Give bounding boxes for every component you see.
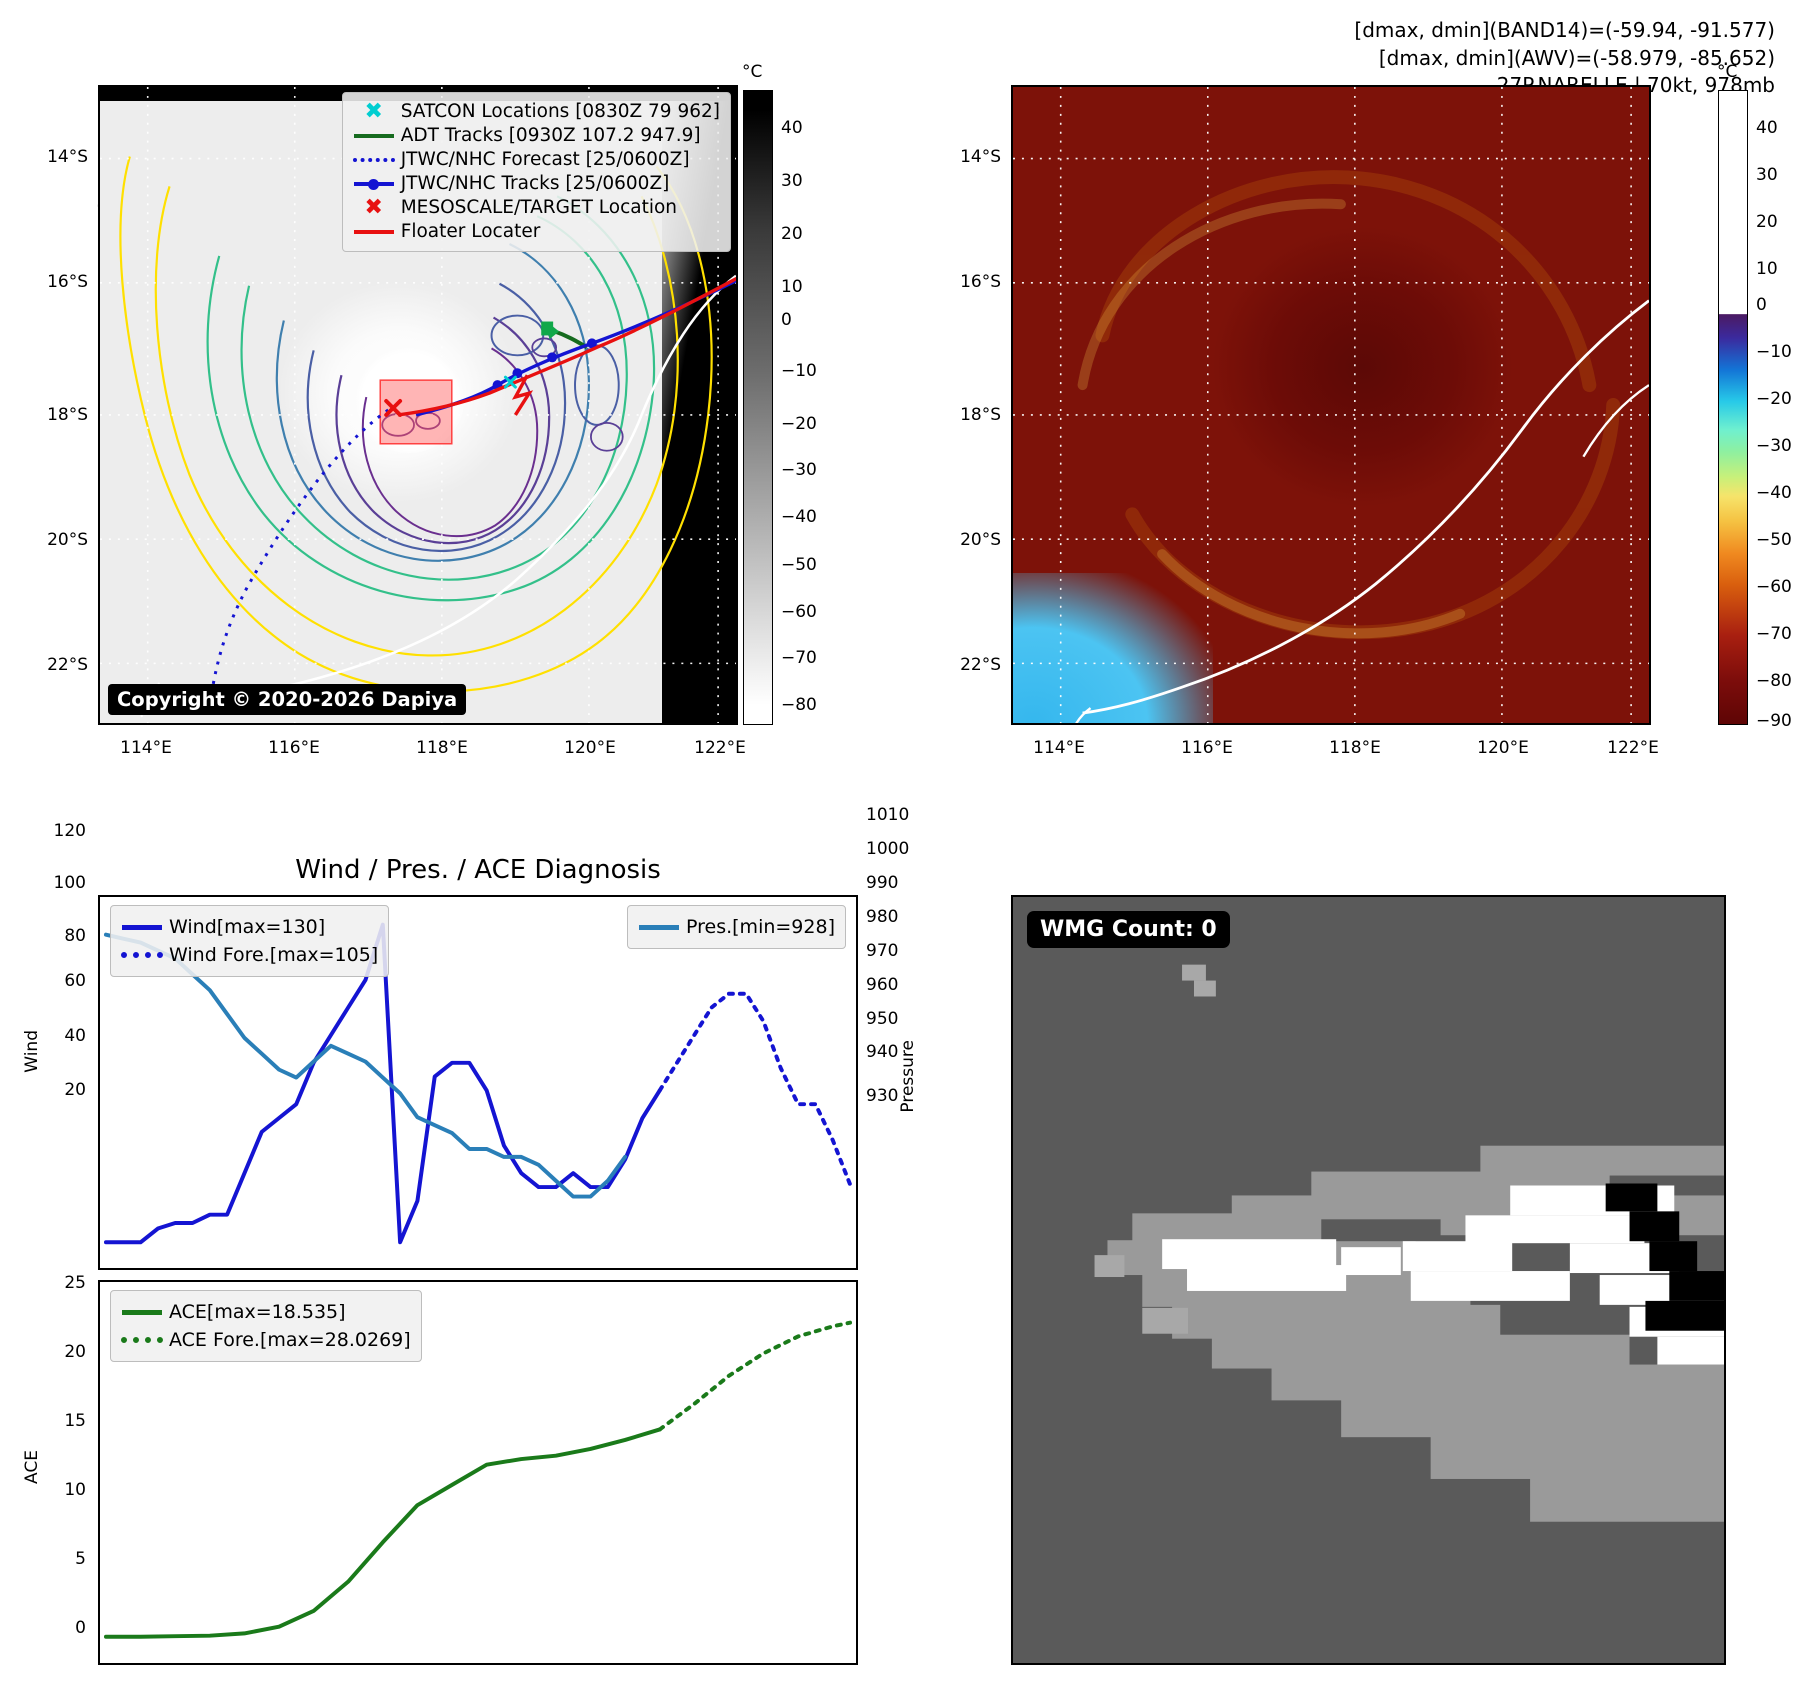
ir-ytick-14s: 14°S (30, 147, 88, 167)
gray-cb-tick-m20: −20 (781, 414, 817, 434)
ir-xtick-120e: 120°E (564, 738, 616, 758)
awv-target-area-panel[interactable] (1011, 85, 1651, 725)
ir-legend: ✖ SATCON Locations [0830Z 79 962] ADT Tr… (342, 92, 731, 252)
awv-ytick-20s: 20°S (943, 530, 1001, 550)
ace-tick-10: 10 (26, 1480, 86, 1500)
color-cb-tick-m10: −10 (1756, 342, 1792, 362)
color-cb-tick-m70: −70 (1756, 624, 1792, 644)
legend-row-satcon: ✖ SATCON Locations [0830Z 79 962] (351, 100, 720, 124)
legend-row-ace: ACE[max=18.535] (119, 1298, 411, 1326)
series-Wind Fore.[max=105] (660, 994, 850, 1185)
gray-cb-tick-20: 20 (781, 224, 803, 244)
ir-xtick-116e: 116°E (268, 738, 320, 758)
legend-row-wind: Wind[max=130] (119, 913, 378, 941)
legend-row-jtwc-tracks: JTWC/NHC Tracks [25/0600Z] (351, 172, 720, 196)
awv-ytick-18s: 18°S (943, 405, 1001, 425)
ir-ytick-22s: 22°S (30, 655, 88, 675)
awv-xtick-114e: 114°E (1033, 738, 1085, 758)
gray-cb-tick-10: 10 (781, 277, 803, 297)
legend-row-ace-forecast: ACE Fore.[max=28.0269] (119, 1326, 411, 1354)
awv-xtick-122e: 122°E (1607, 738, 1659, 758)
legend-row-mesoscale: ✖ MESOSCALE/TARGET Location (351, 196, 720, 220)
satcon-x-icon: ✖ (351, 100, 397, 124)
awv-xtick-120e: 120°E (1477, 738, 1529, 758)
wind-tick-120: 120 (26, 821, 86, 841)
wind-legend: Wind[max=130] Wind Fore.[max=105] (110, 905, 389, 977)
color-cb-tick-m40: −40 (1756, 483, 1792, 503)
gray-cb-tick-m50: −50 (781, 555, 817, 575)
wind-tick-60: 60 (26, 971, 86, 991)
legend-label-satcon: SATCON Locations [0830Z 79 962] (397, 103, 720, 122)
wind-tick-80: 80 (26, 926, 86, 946)
ace-tick-25: 25 (26, 1273, 86, 1293)
pressure-tick-1010: 1010 (866, 805, 909, 825)
ir-xtick-122e: 122°E (694, 738, 746, 758)
ir-target-area-panel[interactable]: ✖ SATCON Locations [0830Z 79 962] ADT Tr… (98, 85, 738, 725)
adt-line-icon (351, 124, 397, 148)
gray-cb-tick-m60: −60 (781, 602, 817, 622)
pressure-tick-970: 970 (866, 941, 898, 961)
ir-xtick-118e: 118°E (416, 738, 468, 758)
ace-tick-20: 20 (26, 1342, 86, 1362)
legend-label-ace: ACE[max=18.535] (165, 1303, 346, 1322)
legend-label-ace-forecast: ACE Fore.[max=28.0269] (165, 1331, 411, 1350)
series-ACE Fore.[max=28.0269] (660, 1323, 850, 1430)
wmg-mask-raster (1013, 897, 1724, 1663)
jtwc-forecast-dotted-icon (351, 148, 397, 172)
color-cb-tick-0: 0 (1756, 295, 1767, 315)
mesoscale-x-icon: ✖ (351, 196, 397, 220)
awv-overlay (1013, 87, 1649, 723)
wmg-count-badge: WMG Count: 0 (1027, 911, 1230, 948)
legend-label-wind: Wind[max=130] (165, 918, 325, 937)
awv-xtick-116e: 116°E (1181, 738, 1233, 758)
legend-label-wind-forecast: Wind Fore.[max=105] (165, 946, 378, 965)
pressure-tick-960: 960 (866, 975, 898, 995)
wind-forecast-dotted-icon (119, 941, 165, 969)
legend-label-mesoscale: MESOSCALE/TARGET Location (397, 199, 677, 218)
ace-forecast-dotted-icon (119, 1326, 165, 1354)
gray-cb-tick-m40: −40 (781, 507, 817, 527)
pressure-line-icon (636, 913, 682, 941)
ace-axis-label: ACE (22, 1450, 42, 1484)
ir-ytick-20s: 20°S (30, 530, 88, 550)
color-cb-tick-20: 20 (1756, 212, 1778, 232)
wind-tick-100: 100 (26, 873, 86, 893)
legend-row-wind-forecast: Wind Fore.[max=105] (119, 941, 378, 969)
pressure-tick-990: 990 (866, 873, 898, 893)
diagnosis-title: Wind / Pres. / ACE Diagnosis (295, 855, 661, 885)
ace-legend: ACE[max=18.535] ACE Fore.[max=28.0269] (110, 1290, 422, 1362)
gray-colorbar (743, 90, 773, 725)
floater-line-icon (351, 220, 397, 244)
jtwc-tracks-line-dot-icon (351, 172, 397, 196)
dashboard-root: HIMAWARI-9 BAND14-DIAS TARGET AREA Time:… (0, 0, 1797, 1690)
gray-cb-tick-0: 0 (781, 310, 792, 330)
pressure-tick-980: 980 (866, 907, 898, 927)
legend-row-floater: Floater Locater (351, 220, 720, 244)
series-ACE[max=18.535] (106, 1429, 660, 1636)
legend-row-adt: ADT Tracks [0930Z 107.2 947.9] (351, 124, 720, 148)
ir-xtick-114e: 114°E (120, 738, 172, 758)
ace-tick-15: 15 (26, 1411, 86, 1431)
pressure-tick-1000: 1000 (866, 839, 909, 859)
pressure-legend: Pres.[min=928] (627, 905, 846, 949)
color-cb-tick-m90: −90 (1756, 711, 1792, 731)
legend-label-pressure: Pres.[min=928] (682, 918, 835, 937)
legend-row-pressure: Pres.[min=928] (636, 913, 835, 941)
color-colorbar-unit: °C (1717, 62, 1737, 82)
pressure-axis-label: Pressure (898, 1040, 918, 1113)
color-cb-tick-30: 30 (1756, 165, 1778, 185)
pressure-tick-940: 940 (866, 1042, 898, 1062)
wind-pressure-chart[interactable]: Wind[max=130] Wind Fore.[max=105] Pres.[… (98, 895, 858, 1270)
color-cb-tick-m20: −20 (1756, 389, 1792, 409)
gray-cb-tick-40: 40 (781, 118, 803, 138)
ace-line-icon (119, 1298, 165, 1326)
copyright-notice: Copyright © 2020-2026 Dapiya (108, 684, 466, 715)
awv-ytick-14s: 14°S (943, 147, 1001, 167)
awv-extremes: [dmax, dmin](AWV)=(-58.979, -85.652) (1354, 45, 1775, 73)
legend-row-jtwc-forecast: JTWC/NHC Forecast [25/0600Z] (351, 148, 720, 172)
legend-label-jtwc-forecast: JTWC/NHC Forecast [25/0600Z] (397, 151, 690, 170)
ir-ytick-16s: 16°S (30, 272, 88, 292)
wind-tick-40: 40 (26, 1026, 86, 1046)
ace-chart[interactable]: ACE[max=18.535] ACE Fore.[max=28.0269] (98, 1280, 858, 1665)
legend-label-adt: ADT Tracks [0930Z 107.2 947.9] (397, 127, 701, 146)
wind-line-icon (119, 913, 165, 941)
gray-cb-tick-m10: −10 (781, 361, 817, 381)
pressure-tick-950: 950 (866, 1009, 898, 1029)
gray-cb-tick-m70: −70 (781, 648, 817, 668)
gray-cb-tick-m80: −80 (781, 695, 817, 715)
legend-label-jtwc-tracks: JTWC/NHC Tracks [25/0600Z] (397, 175, 670, 194)
awv-ytick-22s: 22°S (943, 655, 1001, 675)
ace-tick-5: 5 (26, 1549, 86, 1569)
gray-colorbar-unit: °C (742, 62, 762, 82)
gray-cb-tick-m30: −30 (781, 460, 817, 480)
pressure-tick-930: 930 (866, 1086, 898, 1106)
band14-extremes: [dmax, dmin](BAND14)=(-59.94, -91.577) (1354, 17, 1775, 45)
legend-label-floater: Floater Locater (397, 223, 541, 242)
wmg-panel[interactable]: WMG Count: 0 (1011, 895, 1726, 1665)
color-cb-tick-m60: −60 (1756, 577, 1792, 597)
ace-tick-0: 0 (26, 1618, 86, 1638)
color-cb-tick-40: 40 (1756, 118, 1778, 138)
color-cb-tick-m30: −30 (1756, 436, 1792, 456)
color-cb-tick-m50: −50 (1756, 530, 1792, 550)
color-cb-tick-m80: −80 (1756, 671, 1792, 691)
color-cb-tick-10: 10 (1756, 259, 1778, 279)
awv-xtick-118e: 118°E (1329, 738, 1381, 758)
ir-ytick-18s: 18°S (30, 405, 88, 425)
gray-cb-tick-30: 30 (781, 171, 803, 191)
awv-ytick-16s: 16°S (943, 272, 1001, 292)
color-colorbar (1718, 90, 1748, 725)
wind-tick-20: 20 (26, 1080, 86, 1100)
